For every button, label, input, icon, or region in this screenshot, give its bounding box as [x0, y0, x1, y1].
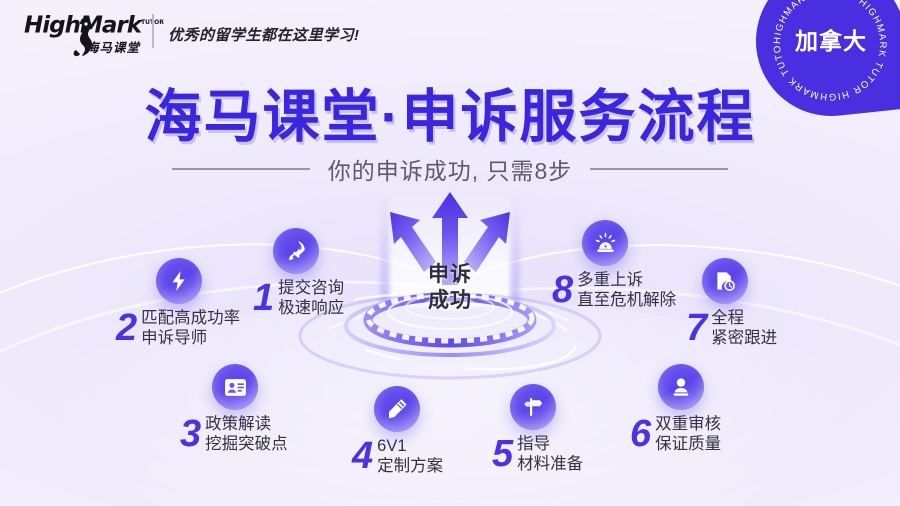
step-6-line1: 双重审核	[655, 414, 721, 434]
step-2-line1: 匹配高成功率	[141, 308, 240, 328]
rocket-icon	[273, 228, 319, 274]
step-8[interactable]: 8 多重上诉 直至危机解除	[552, 220, 676, 310]
step-1-number: 1	[253, 281, 274, 315]
step-8-label: 8 多重上诉 直至危机解除	[552, 270, 676, 310]
hero-label: 申诉 成功	[350, 262, 550, 314]
subtitle-row: 你的申诉成功, 只需8步	[0, 152, 900, 186]
hero-label-line1: 申诉	[350, 262, 550, 288]
seahorse-icon	[70, 17, 96, 57]
step-2[interactable]: 2 匹配高成功率 申诉导师	[120, 258, 240, 348]
subtitle-divider-right	[590, 168, 728, 170]
step-2-line2: 申诉导师	[141, 328, 240, 348]
step-4-number: 4	[352, 439, 373, 473]
step-1-line2: 极速响应	[278, 298, 344, 318]
step-6-number: 6	[630, 417, 651, 451]
step-8-number: 8	[552, 273, 573, 307]
step-1[interactable]: 1 提交咨询 极速响应	[253, 228, 344, 318]
subtitle-divider-left	[172, 168, 310, 170]
step-5[interactable]: 5 指导 材料准备	[492, 384, 583, 474]
step-1-label: 1 提交咨询 极速响应	[253, 278, 344, 318]
badge-country-label: 加拿大	[756, 22, 900, 56]
step-1-text: 提交咨询 极速响应	[278, 278, 344, 318]
step-6-line2: 保证质量	[655, 434, 721, 454]
lightning-bolt-icon	[156, 258, 202, 304]
step-6[interactable]: 6 双重审核 保证质量	[630, 364, 721, 454]
document-clock-icon	[702, 258, 748, 304]
step-4-text: 6V1 定制方案	[377, 436, 443, 476]
step-7[interactable]: 7 全程 紧密跟进	[686, 258, 777, 348]
alarm-siren-icon	[582, 220, 628, 266]
step-2-text: 匹配高成功率 申诉导师	[141, 308, 240, 348]
step-5-number: 5	[492, 437, 513, 471]
step-5-text: 指导 材料准备	[517, 434, 583, 474]
hero-label-line2: 成功	[350, 288, 550, 314]
step-1-line1: 提交咨询	[278, 278, 344, 298]
center-hero: 申诉 成功	[350, 186, 550, 376]
step-8-line1: 多重上诉	[577, 270, 676, 290]
pen-ruler-icon	[374, 386, 420, 432]
step-3-line2: 挖掘突破点	[205, 434, 288, 454]
step-4-line2: 定制方案	[377, 456, 443, 476]
appeal-service-process-poster: HighMarkTUTOR 海马课堂 优秀的留学生都在这里学习! HIGHMAR…	[0, 0, 900, 506]
step-2-label: 2 匹配高成功率 申诉导师	[116, 308, 240, 348]
step-8-text: 多重上诉 直至危机解除	[577, 270, 676, 310]
step-7-text: 全程 紧密跟进	[711, 308, 777, 348]
page-subtitle: 你的申诉成功, 只需8步	[328, 152, 573, 186]
step-5-line1: 指导	[517, 434, 583, 454]
step-3-number: 3	[180, 417, 201, 451]
step-8-line2: 直至危机解除	[577, 290, 676, 310]
signpost-icon	[510, 384, 556, 430]
step-5-line2: 材料准备	[517, 454, 583, 474]
step-7-number: 7	[686, 311, 707, 345]
step-7-line1: 全程	[711, 308, 777, 328]
step-6-text: 双重审核 保证质量	[655, 414, 721, 454]
step-7-line2: 紧密跟进	[711, 328, 777, 348]
stamp-icon	[658, 364, 704, 410]
header-tagline: 优秀的留学生都在这里学习!	[168, 24, 360, 45]
step-7-label: 7 全程 紧密跟进	[686, 308, 777, 348]
step-3-label: 3 政策解读 挖掘突破点	[180, 414, 288, 454]
step-2-number: 2	[116, 311, 137, 345]
step-3-line1: 政策解读	[205, 414, 288, 434]
id-card-icon	[212, 364, 258, 410]
page-title: 海马课堂·申诉服务流程	[0, 71, 900, 153]
step-4-line1: 6V1	[377, 436, 443, 456]
step-5-label: 5 指导 材料准备	[492, 434, 583, 474]
step-6-label: 6 双重审核 保证质量	[630, 414, 721, 454]
header-divider	[152, 14, 154, 48]
step-4[interactable]: 4 6V1 定制方案	[352, 386, 443, 476]
step-3[interactable]: 3 政策解读 挖掘突破点	[180, 364, 288, 454]
step-4-label: 4 6V1 定制方案	[352, 436, 443, 476]
brand-logo[interactable]: HighMarkTUTOR 海马课堂	[24, 11, 144, 53]
step-3-text: 政策解读 挖掘突破点	[205, 414, 288, 454]
